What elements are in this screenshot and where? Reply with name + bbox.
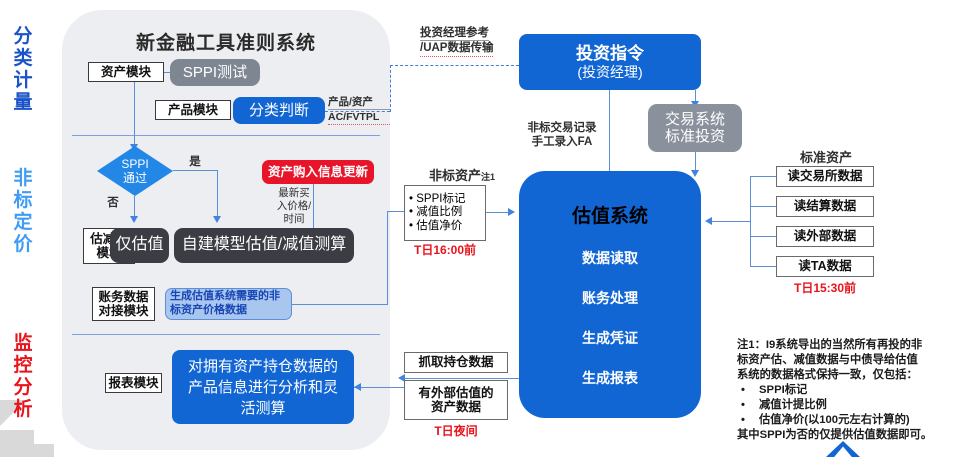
non-standard-asset-box: • SPPI标记 • 减值比例 • 估值净价 [404, 185, 486, 241]
connector-std-4 [750, 266, 776, 267]
list-item-label: 减值比例 [416, 206, 462, 218]
valuation-system-row: 数据读取 [582, 248, 638, 268]
connector-asset-to-diamond [134, 72, 135, 146]
list-item-label: SPPI标记 [416, 193, 465, 205]
phase-char: 价 [8, 234, 38, 256]
panel-divider-1 [72, 135, 380, 136]
non-standard-record-line-2: 手工录入FA [520, 135, 604, 149]
module-tag-line-2: 对接模块 [98, 304, 148, 318]
footnote-tail: 其中SPPI为否的仅提供估值数据即可。 [737, 428, 969, 443]
non-standard-record-label: 非标交易记录 手工录入FA [520, 121, 604, 150]
diagram-canvas: 分 类 计 量 非 标 定 价 监 控 分 析 新金融工具准则系统 资产模块 S… [0, 0, 969, 457]
connector-callout-h1 [292, 304, 388, 305]
phase-char: 析 [8, 399, 38, 421]
latest-price-time-label: 最新买 入价格/ 时间 [274, 187, 314, 226]
deadline-night-label: T日夜间 [404, 424, 508, 439]
external-valuation-line-2: 资产数据 [431, 400, 481, 414]
dashed-connector-h2 [390, 65, 519, 66]
connector-std-1 [750, 176, 776, 177]
decor-rect-2 [34, 444, 54, 457]
valuation-system-row: 生成报表 [582, 368, 638, 388]
panel-divider-2 [72, 334, 380, 335]
phase-label-classification-measurement: 分 类 计 量 [8, 26, 38, 114]
list-item: • 估值净价 [409, 220, 462, 233]
module-tag-accounting-data: 账务数据 对接模块 [92, 287, 155, 321]
standard-assets-title: 标准资产 [778, 150, 874, 166]
connector-std-to-valuation [712, 221, 750, 222]
valuation-only-node[interactable]: 仅估值 [110, 228, 169, 263]
classification-annotation: 产品/资产 AC/FVTPL [328, 95, 390, 125]
investment-order-node[interactable]: 投资指令 (投资经理) [519, 34, 701, 90]
sppi-test-node[interactable]: SPPI测试 [170, 59, 260, 86]
phase-label-monitoring-analysis: 监 控 分 析 [8, 333, 38, 421]
standard-asset-item[interactable]: 读结算数据 [776, 196, 874, 217]
investment-order-line-2: (投资经理) [577, 64, 642, 80]
list-item: • SPPI标记 [409, 193, 465, 206]
phase-char: 分 [8, 377, 38, 399]
arrow-std-to-valuation [705, 217, 712, 225]
trade-system-node[interactable]: 交易系统 标准投资 [648, 104, 742, 152]
connector-yes-h [173, 170, 218, 171]
note-marker: 注1 [481, 172, 495, 182]
pm-reference-line-1: 投资经理参考 [420, 26, 489, 41]
arrow-yes-down [213, 216, 221, 223]
classification-judgement-node[interactable]: 分类判断 [233, 97, 325, 124]
arrow-nonstandard-right [508, 208, 515, 216]
footnote-line-3: 系统的数据格式保持一致，仅包括： [737, 368, 969, 383]
latest-price-line-3: 时间 [274, 213, 314, 226]
phase-char: 非 [8, 168, 38, 190]
phase-char: 监 [8, 333, 38, 355]
decision-line-2: 通过 [121, 171, 148, 185]
report-analysis-node[interactable]: 对拥有资产持仓数据的产品信息进行分析和灵活测算 [172, 350, 354, 424]
title-text: 非标资产 [429, 168, 481, 183]
arrow-report-left [354, 383, 361, 391]
non-standard-asset-title: 非标资产注1 [412, 168, 512, 184]
annotation-line-2: AC/FVTPL [328, 110, 390, 125]
phase-char: 计 [8, 70, 38, 92]
trade-system-line-1: 交易系统 [665, 111, 725, 128]
valuation-system-row: 账务处理 [582, 288, 638, 308]
connector-report-right [354, 387, 404, 388]
phase-label-non-standard-pricing: 非 标 定 价 [8, 168, 38, 256]
generate-price-data-callout[interactable]: 生成估值系统需要的非标资产价格数据 [165, 288, 292, 320]
module-tag-report: 报表模块 [105, 373, 162, 393]
footnote-bullet: SPPI标记 [737, 383, 969, 398]
branch-label-yes: 是 [185, 155, 205, 169]
connector-no-v [134, 196, 135, 218]
phase-char: 量 [8, 92, 38, 114]
standard-asset-item[interactable]: 读TA数据 [776, 256, 874, 277]
dashed-connector-v1 [390, 65, 391, 112]
connector-callout-v1 [387, 211, 388, 305]
annotation-line-1: 产品/资产 [328, 95, 390, 110]
decision-line-1: SPPI [121, 157, 148, 171]
asset-purchase-update-node[interactable]: 资产购入信息更新 [262, 160, 374, 184]
footnote-line-2: 标资产估、减值数据与中债导给估值 [737, 353, 969, 368]
connector-yes-v [217, 170, 218, 218]
deadline-1530-label: T日15:30前 [776, 281, 874, 296]
connector-order-to-valuation [609, 90, 610, 171]
connector-std-3 [750, 236, 776, 237]
standard-asset-item[interactable]: 读外部数据 [776, 226, 874, 247]
branch-label-no: 否 [103, 196, 123, 210]
phase-char: 标 [8, 190, 38, 212]
investment-order-line-1: 投资指令 [576, 44, 644, 64]
footnote-bullets: SPPI标记 减值计提比例 估值净价(以100元左右计算的) [737, 383, 969, 428]
arrow-trade-down [691, 170, 699, 177]
module-tag-line-1: 账务数据 [98, 290, 148, 304]
pm-reference-label: 投资经理参考 /UAP数据传输 [420, 26, 528, 57]
external-valuation-box[interactable]: 有外部估值的 资产数据 [404, 380, 508, 420]
footnote-note1: 注1：I9系统导出的当然所有再投的非 标资产估、减值数据与中债导给估值 系统的数… [737, 338, 969, 443]
valuation-system-row: 生成凭证 [582, 328, 638, 348]
phase-char: 类 [8, 48, 38, 70]
phase-char: 分 [8, 26, 38, 48]
page-title: 新金融工具准则系统 [62, 28, 390, 55]
sppi-pass-decision[interactable]: SPPI 通过 [97, 146, 173, 196]
chevron-up-icon [826, 441, 860, 457]
list-item-label: 估值净价 [416, 220, 462, 232]
phase-char: 控 [8, 355, 38, 377]
footnote-bullet: 减值计提比例 [737, 398, 969, 413]
phase-char: 定 [8, 212, 38, 234]
external-valuation-line-1: 有外部估值的 [418, 386, 493, 400]
latest-price-line-1: 最新买 [274, 187, 314, 200]
module-tag-product: 产品模块 [155, 100, 231, 120]
valuation-system-header: 估值系统 [572, 201, 648, 228]
latest-price-line-2: 入价格/ [274, 200, 314, 213]
decor-rect-1 [0, 430, 34, 457]
list-item: • 减值比例 [409, 206, 462, 219]
pm-reference-line-2: /UAP数据传输 [420, 41, 493, 56]
connector-std-bus [750, 176, 751, 267]
module-tag-asset: 资产模块 [88, 62, 164, 82]
connector-std-2 [750, 206, 776, 207]
non-standard-record-line-1: 非标交易记录 [520, 121, 604, 135]
footnote-bullet: 估值净价(以100元左右计算的) [737, 413, 969, 428]
arrow-no-down [130, 216, 138, 223]
deadline-1600-label: T日16:00前 [404, 243, 486, 258]
standard-asset-item[interactable]: 读交易所数据 [776, 166, 874, 187]
fetch-position-data-box[interactable]: 抓取持仓数据 [404, 352, 508, 373]
self-built-model-node[interactable]: 自建模型估值/减值测算 [174, 228, 354, 263]
footnote-line-1: 注1：I9系统导出的当然所有再投的非 [737, 338, 969, 353]
trade-system-line-2: 标准投资 [665, 128, 725, 145]
valuation-system-node[interactable]: 估值系统 数据读取 账务处理 生成凭证 生成报表 [519, 171, 701, 418]
